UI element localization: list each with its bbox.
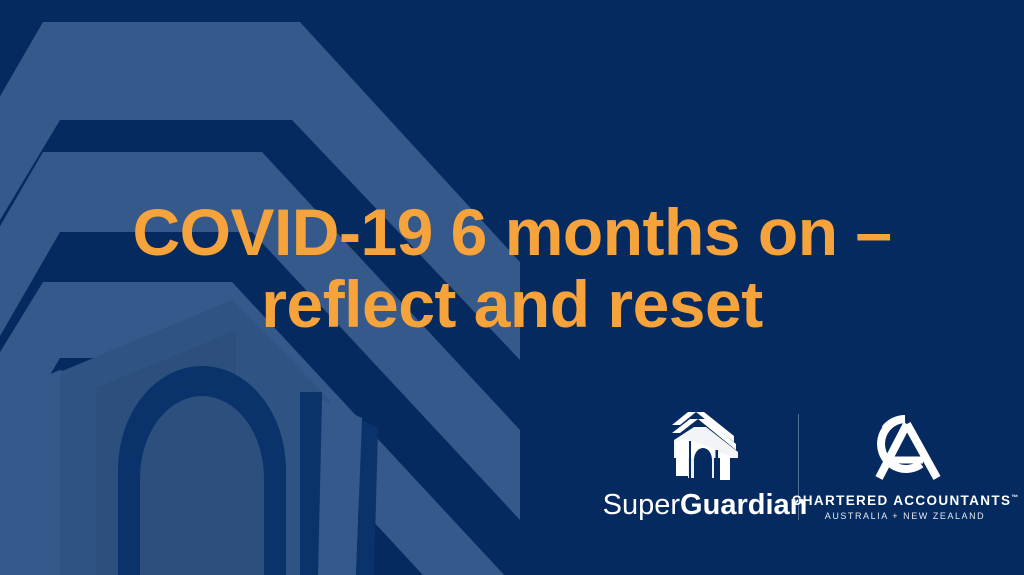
superguardian-logo: SuperGuardian bbox=[612, 408, 798, 521]
title-line-1: COVID-19 6 months on – bbox=[40, 196, 984, 268]
chartered-accountants-region: AUSTRALIA + NEW ZEALAND bbox=[825, 511, 985, 521]
arch-monument-icon bbox=[662, 408, 748, 480]
superguardian-wordmark-bold: Guardian bbox=[680, 489, 807, 521]
superguardian-wordmark-light: Super bbox=[603, 489, 680, 521]
footer-logo-lockup: SuperGuardian CHARTERED ACCOUNTANTS™ bbox=[612, 408, 1012, 533]
slide-title: COVID-19 6 months on – reflect and reset bbox=[0, 196, 1024, 340]
title-slide: COVID-19 6 months on – reflect and reset bbox=[0, 0, 1024, 575]
superguardian-wordmark: SuperGuardian bbox=[603, 489, 808, 521]
title-line-2: reflect and reset bbox=[40, 268, 984, 340]
chartered-accountants-name: CHARTERED ACCOUNTANTS™ bbox=[792, 493, 1019, 508]
chartered-accountants-logo: CHARTERED ACCOUNTANTS™ AUSTRALIA + NEW Z… bbox=[799, 408, 1011, 521]
trademark-symbol: ™ bbox=[1011, 495, 1018, 502]
ca-name-text: CHARTERED ACCOUNTANTS bbox=[792, 493, 1012, 508]
ca-monogram-icon bbox=[861, 412, 949, 482]
